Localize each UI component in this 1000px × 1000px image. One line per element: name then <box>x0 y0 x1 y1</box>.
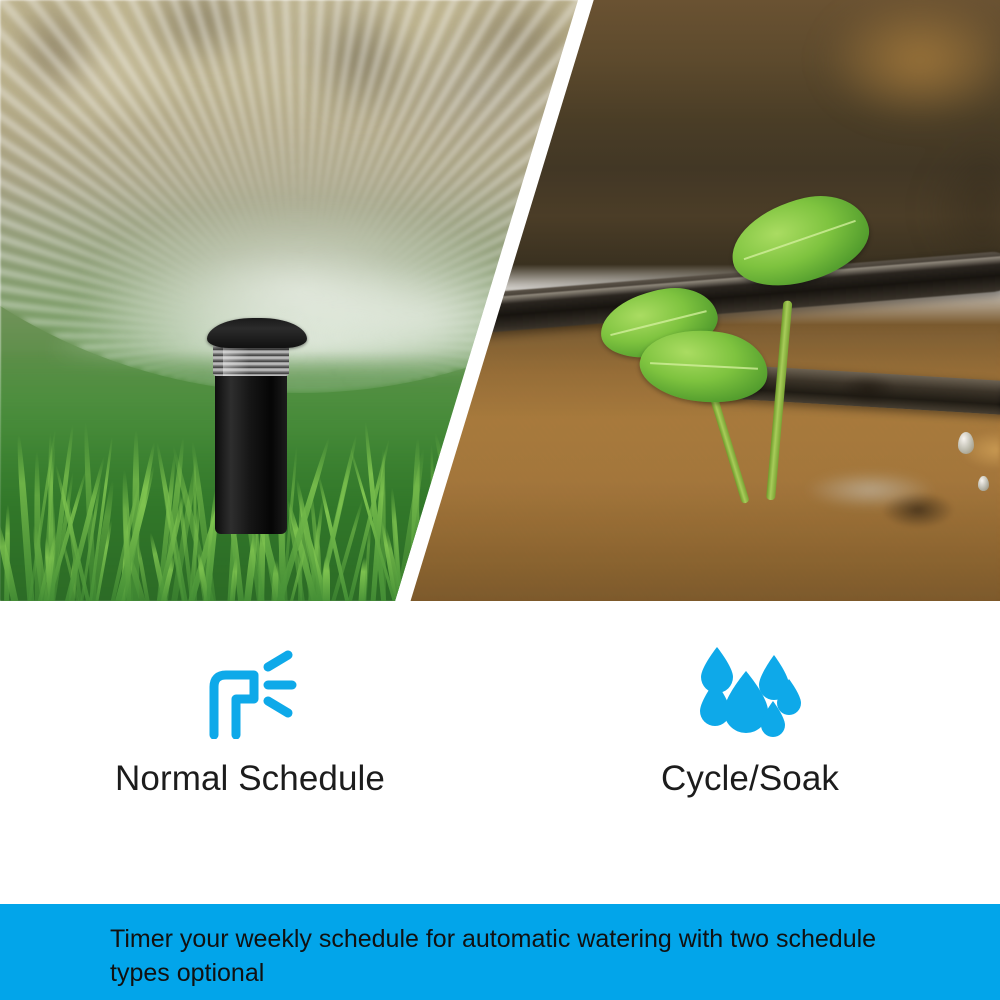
product-feature-panel: Normal Schedule <box>0 0 1000 1000</box>
water-droplet-on-tube <box>958 432 974 454</box>
wet-soil-sheen <box>400 430 1000 600</box>
caption-banner-text: Timer your weekly schedule for automatic… <box>110 922 910 990</box>
sprinkler-spray-icon <box>202 643 298 743</box>
sprinkler-head <box>207 318 307 348</box>
photo-band <box>0 0 1000 601</box>
feature-normal-schedule: Normal Schedule <box>0 601 500 904</box>
sprinkler-stem <box>215 374 287 534</box>
water-droplets-icon <box>696 643 804 743</box>
feature-row: Normal Schedule <box>0 601 1000 904</box>
caption-banner: Timer your weekly schedule for automatic… <box>0 904 1000 1000</box>
feature-cycle-soak: Cycle/Soak <box>500 601 1000 904</box>
feature-label-cycle-soak: Cycle/Soak <box>661 761 839 798</box>
feature-label-normal-schedule: Normal Schedule <box>115 761 385 798</box>
sprinkler-collar <box>213 344 289 376</box>
water-droplet-falling <box>978 476 989 491</box>
